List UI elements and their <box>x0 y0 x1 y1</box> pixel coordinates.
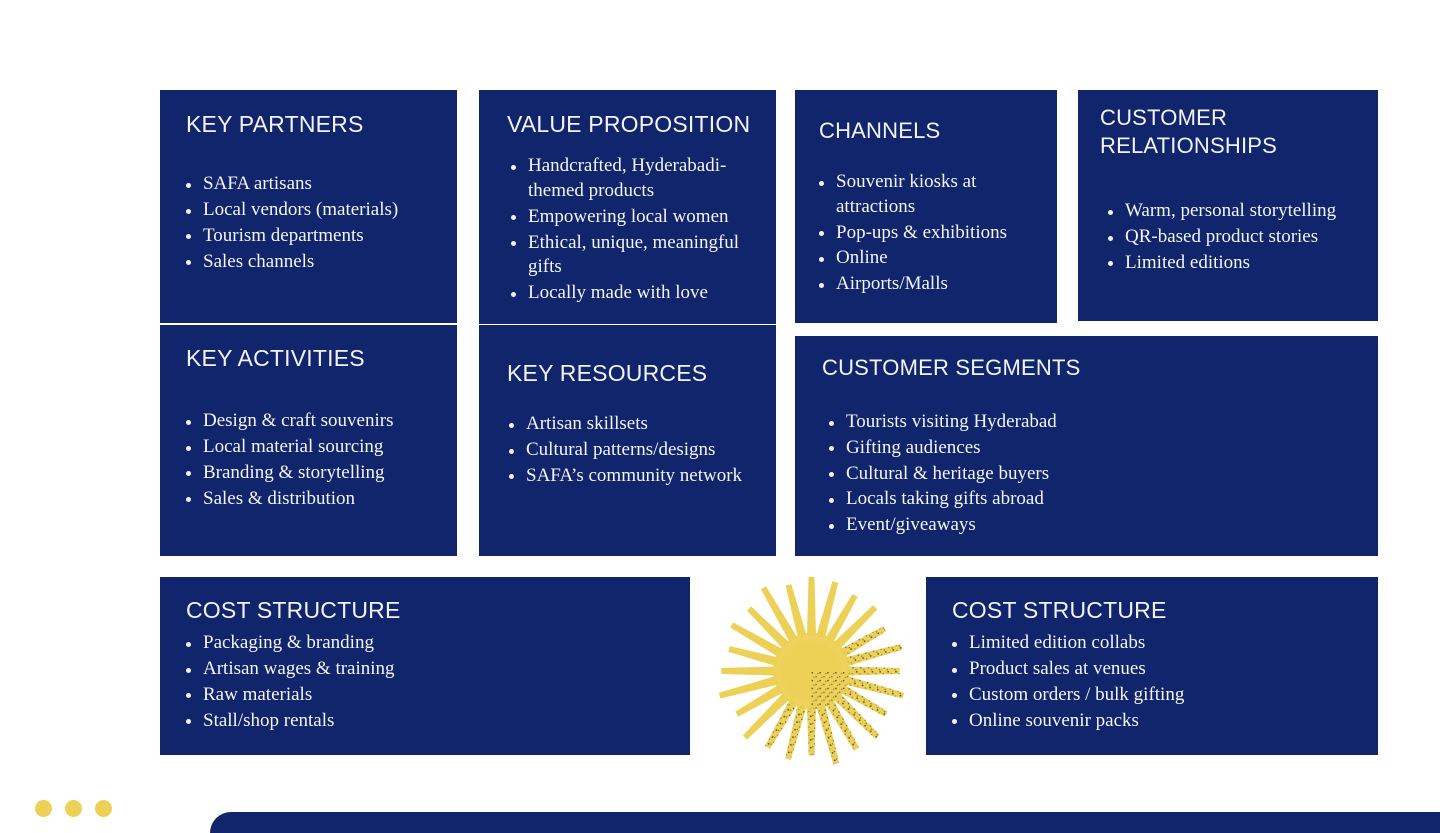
list-item: Artisan skillsets <box>507 412 769 437</box>
list-item: QR-based product stories <box>1106 225 1366 250</box>
list-item: Empowering local women <box>509 205 761 230</box>
dot-icon <box>35 800 52 817</box>
list-item: Souvenir kiosks at attractions <box>817 170 1042 219</box>
panel-key-resources[interactable]: KEY RESOURCES Artisan skillsets Cultural… <box>479 325 776 556</box>
list-item: Artisan wages & training <box>184 657 654 682</box>
panel-list-key-activities: Design & craft souvenirs Local material … <box>184 409 446 511</box>
panel-customer-relationships[interactable]: CUSTOMER RELATIONSHIPS Warm, personal st… <box>1078 90 1378 321</box>
list-item: Locals taking gifts abroad <box>827 487 1247 512</box>
panel-revenue-streams[interactable]: COST STRUCTURE Limited edition collabs P… <box>926 577 1378 755</box>
panel-key-partners[interactable]: KEY PARTNERS SAFA artisans Local vendors… <box>160 90 457 323</box>
list-item: Online <box>817 246 1042 271</box>
list-item: Tourists visiting Hyderabad <box>827 410 1247 435</box>
list-item: Limited editions <box>1106 251 1366 276</box>
panel-title-customer-segments: CUSTOMER SEGMENTS <box>822 354 1378 382</box>
panel-list-key-partners: SAFA artisans Local vendors (materials) … <box>184 172 444 274</box>
panel-title-key-resources: KEY RESOURCES <box>507 359 776 388</box>
panel-key-activities[interactable]: KEY ACTIVITIES Design & craft souvenirs … <box>160 325 457 556</box>
panel-list-customer-segments: Tourists visiting Hyderabad Gifting audi… <box>827 410 1247 537</box>
list-item: Local material sourcing <box>184 435 446 460</box>
sunburst-icon <box>705 573 918 769</box>
list-item: Cultural & heritage buyers <box>827 462 1247 487</box>
panel-list-customer-relationships: Warm, personal storytelling QR-based pro… <box>1106 199 1366 275</box>
list-item: Warm, personal storytelling <box>1106 199 1366 224</box>
panel-list-channels: Souvenir kiosks at attractions Pop-ups &… <box>817 170 1042 296</box>
panel-list-key-resources: Artisan skillsets Cultural patterns/desi… <box>507 412 769 488</box>
panel-title-revenue-streams: COST STRUCTURE <box>952 596 1378 625</box>
decorative-dots <box>35 800 112 817</box>
list-item: Ethical, unique, meaningful gifts <box>509 231 761 280</box>
panel-channels[interactable]: CHANNELS Souvenir kiosks at attractions … <box>795 90 1057 323</box>
list-item: Cultural patterns/designs <box>507 438 769 463</box>
panel-list-revenue-streams: Limited edition collabs Product sales at… <box>950 631 1350 733</box>
list-item: Tourism departments <box>184 224 444 249</box>
list-item: Gifting audiences <box>827 436 1247 461</box>
panel-value-proposition[interactable]: VALUE PROPOSITION Handcrafted, Hyderabad… <box>479 90 776 324</box>
list-item: Stall/shop rentals <box>184 709 654 734</box>
panel-cost-structure[interactable]: COST STRUCTURE Packaging & branding Arti… <box>160 577 690 755</box>
list-item: Product sales at venues <box>950 657 1350 682</box>
panel-title-key-activities: KEY ACTIVITIES <box>186 344 457 373</box>
list-item: Design & craft souvenirs <box>184 409 446 434</box>
list-item: SAFA artisans <box>184 172 444 197</box>
list-item: Branding & storytelling <box>184 461 446 486</box>
bottom-accent-bar <box>210 812 1440 833</box>
panel-title-channels: CHANNELS <box>819 117 1057 145</box>
panel-list-cost-structure: Packaging & branding Artisan wages & tra… <box>184 631 654 733</box>
panel-title-cost-structure: COST STRUCTURE <box>186 596 690 625</box>
panel-list-value-proposition: Handcrafted, Hyderabadi-themed products … <box>509 154 761 305</box>
list-item: Handcrafted, Hyderabadi-themed products <box>509 154 761 203</box>
list-item: Raw materials <box>184 683 654 708</box>
list-item: Custom orders / bulk gifting <box>950 683 1350 708</box>
list-item: Local vendors (materials) <box>184 198 444 223</box>
dot-icon <box>95 800 112 817</box>
list-item: Sales & distribution <box>184 487 446 512</box>
list-item: Pop-ups & exhibitions <box>817 221 1042 246</box>
list-item: Packaging & branding <box>184 631 654 656</box>
list-item: Limited edition collabs <box>950 631 1350 656</box>
list-item: Event/giveaways <box>827 513 1247 538</box>
list-item: SAFA’s community network <box>507 464 769 489</box>
panel-title-customer-relationships: CUSTOMER RELATIONSHIPS <box>1100 104 1378 160</box>
list-item: Airports/Malls <box>817 272 1042 297</box>
list-item: Locally made with love <box>509 281 761 306</box>
panel-title-value-proposition: VALUE PROPOSITION <box>507 110 776 139</box>
list-item: Online souvenir packs <box>950 709 1350 734</box>
business-model-canvas: KEY PARTNERS SAFA artisans Local vendors… <box>0 0 1440 833</box>
dot-icon <box>65 800 82 817</box>
list-item: Sales channels <box>184 250 444 275</box>
panel-customer-segments[interactable]: CUSTOMER SEGMENTS Tourists visiting Hyde… <box>795 336 1378 556</box>
panel-title-key-partners: KEY PARTNERS <box>186 110 457 139</box>
